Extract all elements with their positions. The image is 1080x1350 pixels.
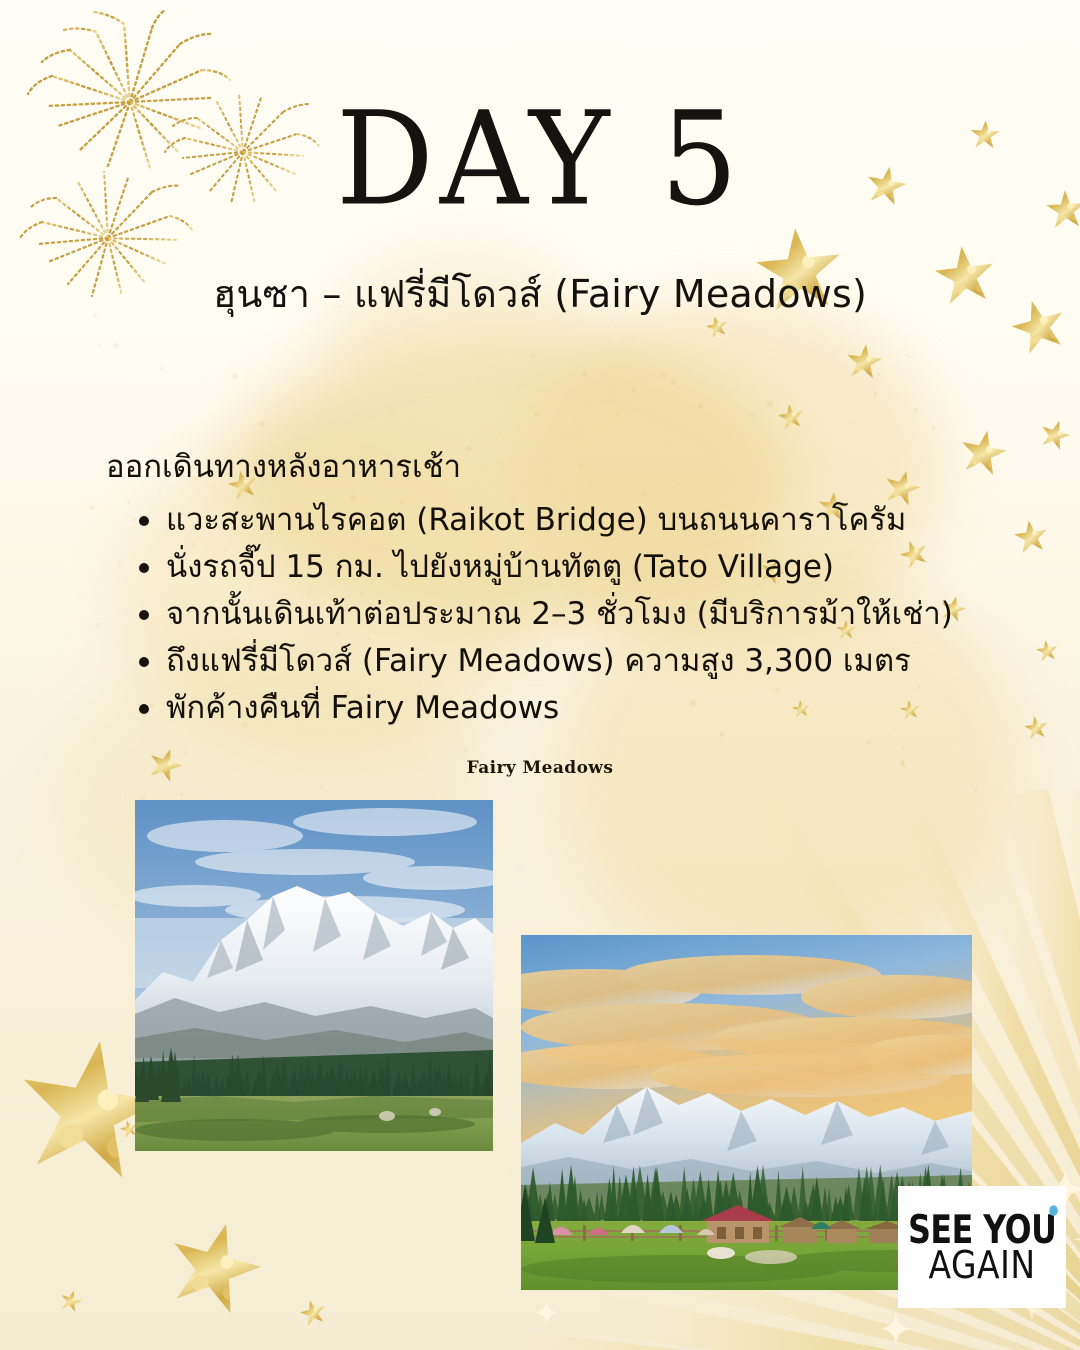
itinerary-bullet-5: พักค้างคืนที่ Fairy Meadows <box>106 685 986 732</box>
gold-glitter-star-icon <box>1036 416 1073 453</box>
gold-glitter-star-icon <box>57 1287 84 1314</box>
gold-glitter-star-icon <box>157 1211 270 1324</box>
itinerary-bullet-4: ถึงแฟรี่มีโดวส์ (Fairy Meadows) ความสูง … <box>106 638 986 685</box>
gold-glitter-star-icon <box>297 1297 328 1328</box>
itinerary-bullet-3: จากนั้นเดินเท้าต่อประมาณ 2–3 ชั่วโมง (มี… <box>106 591 986 638</box>
page-subtitle: ฮุนซา – แฟรี่มีโดวส์ (Fairy Meadows) <box>0 272 1080 318</box>
itinerary-bullet-1: แวะสะพานไรคอต (Raikot Bridge) บนถนนคาราโ… <box>106 497 986 544</box>
intro-text: ออกเดินทางหลังอาหารเช้า <box>106 448 986 487</box>
photo-nanga-parbat <box>135 800 493 1151</box>
gold-glitter-star-icon <box>704 314 730 340</box>
gold-glitter-star-icon <box>1022 714 1049 741</box>
gold-glitter-star-icon <box>844 342 884 382</box>
brand-logo: SEE YOU AGAIN <box>898 1186 1066 1308</box>
gold-glitter-star-icon <box>1012 518 1050 556</box>
itinerary-bullet-2: นั่งรถจี๊ป 15 กม. ไปยังหมู่บ้านทัตตู (Ta… <box>106 544 986 591</box>
logo-line-2: AGAIN <box>928 1245 1035 1283</box>
itinerary-body: ออกเดินทางหลังอาหารเช้า แวะสะพานไรคอต (R… <box>106 448 986 732</box>
itinerary-bullet-list: แวะสะพานไรคอต (Raikot Bridge) บนถนนคาราโ… <box>106 497 986 733</box>
page-title: DAY 5 <box>0 94 1080 223</box>
gold-glitter-star-icon <box>1035 639 1060 664</box>
gold-glitter-star-icon <box>776 402 806 432</box>
photo-caption: Fairy Meadows <box>0 758 1080 778</box>
logo-dot-icon <box>1049 1205 1058 1216</box>
poster-canvas: DAY 5 ฮุนซา – แฟรี่มีโดวส์ (Fairy Meadow… <box>0 0 1080 1350</box>
